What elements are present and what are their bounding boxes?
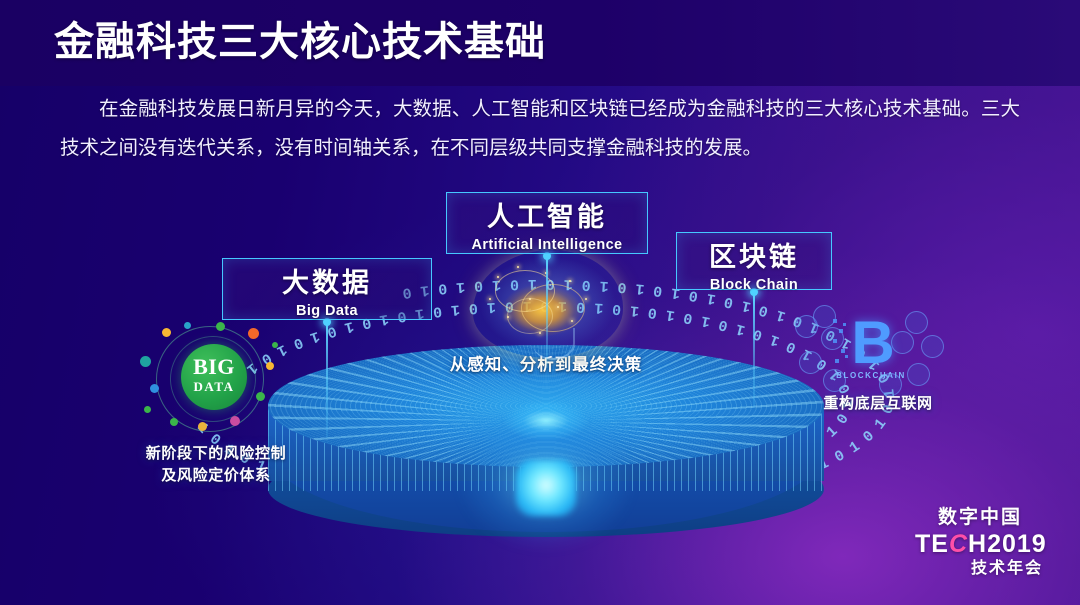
connector-blockchain [753,292,755,408]
central-platform: 从感知、分析到最终决策 [268,345,824,560]
card-blockchain-subtitle: Block Chain [691,275,817,295]
blockchain-letter-b: B [847,313,899,375]
blockchain-label: BLOCKCHAIN [795,371,947,380]
bigdata-word-top: BIG [181,356,247,378]
intro-paragraph: 在金融科技发展日新月异的今天，大数据、人工智能和区块链已经成为金融科技的三大核心… [60,90,1020,168]
bigdata-caption-line2: 及风险定价体系 [96,465,336,487]
logo-tech-rest: H2019 [968,530,1047,558]
logo-tech-prefix: TE [915,530,949,558]
bigdata-icon: BIG DATA [138,322,284,434]
event-logo: 数字中国 TECH2019 技术年会 [905,506,1055,592]
connector-bigdata [326,322,328,438]
card-blockchain-title: 区块链 [691,239,817,275]
card-ai[interactable]: 人工智能 Artificial Intelligence [446,192,648,254]
card-bigdata[interactable]: 大数据 Big Data [222,258,432,320]
bigdata-word-bottom: DATA [181,380,247,394]
core-beam [516,460,576,516]
logo-line-3: 技术年会 [905,558,1055,580]
blockchain-icon: B BLOCKCHAIN [795,305,947,397]
card-ai-title: 人工智能 [461,199,633,235]
card-ai-subtitle: Artificial Intelligence [461,235,633,255]
brain-icon [473,250,623,358]
bigdata-caption-line1: 新阶段下的风险控制 [96,443,336,465]
card-blockchain[interactable]: 区块链 Block Chain [676,232,832,290]
bigdata-green-circle: BIG DATA [181,344,247,410]
bigdata-caption: 新阶段下的风险控制 及风险定价体系 [96,443,336,487]
connector-ai [546,256,548,368]
logo-tech-2019: TECH2019 [905,530,1055,558]
slide-canvas: 金融科技三大核心技术基础 在金融科技发展日新月异的今天，大数据、人工智能和区块链… [0,0,1080,605]
page-title: 金融科技三大核心技术基础 [54,16,546,68]
logo-tech-c: C [949,530,968,558]
card-bigdata-title: 大数据 [237,265,417,301]
logo-line-1: 数字中国 [905,506,1055,530]
blockchain-caption: 重构底层互联网 [790,393,966,415]
card-bigdata-subtitle: Big Data [237,301,417,321]
